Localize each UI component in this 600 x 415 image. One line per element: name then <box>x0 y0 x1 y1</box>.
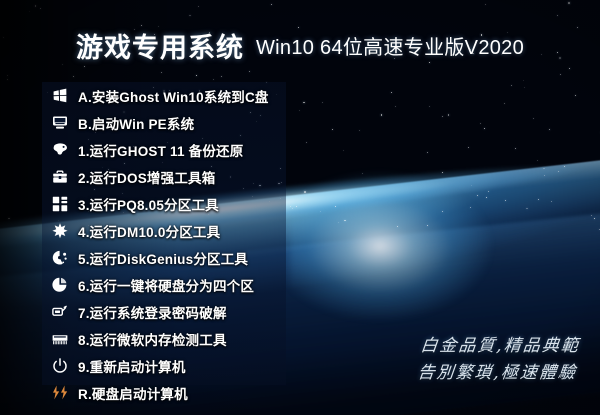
disk-icon <box>51 249 69 267</box>
menu-item-6[interactable]: 6.运行一键将硬盘分为四个区 <box>42 271 342 298</box>
menu-item-label: 2.运行DOS增强工具箱 <box>78 167 215 187</box>
menu-item-label: 6.运行一键将硬盘分为四个区 <box>78 275 254 295</box>
monitor-icon <box>51 114 69 132</box>
menu-item-3[interactable]: 3.运行PQ8.05分区工具 <box>42 190 342 217</box>
ghost-icon <box>51 141 69 159</box>
menu-item-8[interactable]: 8.运行微软内存检测工具 <box>42 325 342 352</box>
menu-item-4[interactable]: 4.运行DM10.0分区工具 <box>42 217 342 244</box>
menu-item-label: B.启动Win PE系统 <box>78 113 194 133</box>
menu-item-1[interactable]: 1.运行GHOST 11 备份还原 <box>42 136 342 163</box>
page-subtitle: Win10 64位高速专业版V2020 <box>256 31 524 60</box>
power-icon <box>51 357 69 375</box>
toolbox-icon <box>51 168 69 186</box>
lightning-bolts-icon <box>51 384 69 402</box>
menu-item-label: 1.运行GHOST 11 备份还原 <box>78 140 243 160</box>
menu-item-label: 9.重新启动计算机 <box>78 356 186 376</box>
slogan-line-2: 告別繁瑣,極速體驗 <box>416 360 578 387</box>
pie-chart-icon <box>51 276 69 294</box>
title-bar: 游戏专用系统 Win10 64位高速专业版V2020 <box>0 18 600 72</box>
grid-blocks-icon <box>51 195 69 213</box>
menu-item-label: 3.运行PQ8.05分区工具 <box>78 194 219 214</box>
key-lock-icon <box>51 303 69 321</box>
menu-item-9[interactable]: 9.重新启动计算机 <box>42 352 342 379</box>
boot-menu-screen: 游戏专用系统 Win10 64位高速专业版V2020 A.安装Ghost Win… <box>0 0 600 415</box>
menu-item-r[interactable]: R.硬盘启动计算机 <box>42 379 342 406</box>
menu-item-5[interactable]: 5.运行DiskGenius分区工具 <box>42 244 342 271</box>
menu-item-b[interactable]: B.启动Win PE系统 <box>42 109 342 136</box>
slogan-watermark: 白金品質,精品典範 告別繁瑣,極速體驗 <box>416 333 581 387</box>
menu-item-2[interactable]: 2.运行DOS增强工具箱 <box>42 163 342 190</box>
menu-item-label: 4.运行DM10.0分区工具 <box>78 221 220 241</box>
slogan-line-1: 白金品質,精品典範 <box>419 333 581 360</box>
windows-flag-icon <box>51 87 69 105</box>
menu-item-7[interactable]: 7.运行系统登录密码破解 <box>42 298 342 325</box>
menu-item-label: 5.运行DiskGenius分区工具 <box>78 248 248 268</box>
menu-item-a[interactable]: A.安装Ghost Win10系统到C盘 <box>42 82 342 109</box>
memory-chip-icon <box>51 330 69 348</box>
menu-item-label: R.硬盘启动计算机 <box>78 383 188 403</box>
menu-item-label: 7.运行系统登录密码破解 <box>78 302 227 322</box>
starburst-icon <box>51 222 69 240</box>
menu-item-label: A.安装Ghost Win10系统到C盘 <box>78 86 269 106</box>
menu-item-label: 8.运行微软内存检测工具 <box>78 329 227 349</box>
boot-menu-list: A.安装Ghost Win10系统到C盘B.启动Win PE系统1.运行GHOS… <box>42 82 342 406</box>
page-title: 游戏专用系统 <box>76 26 244 65</box>
